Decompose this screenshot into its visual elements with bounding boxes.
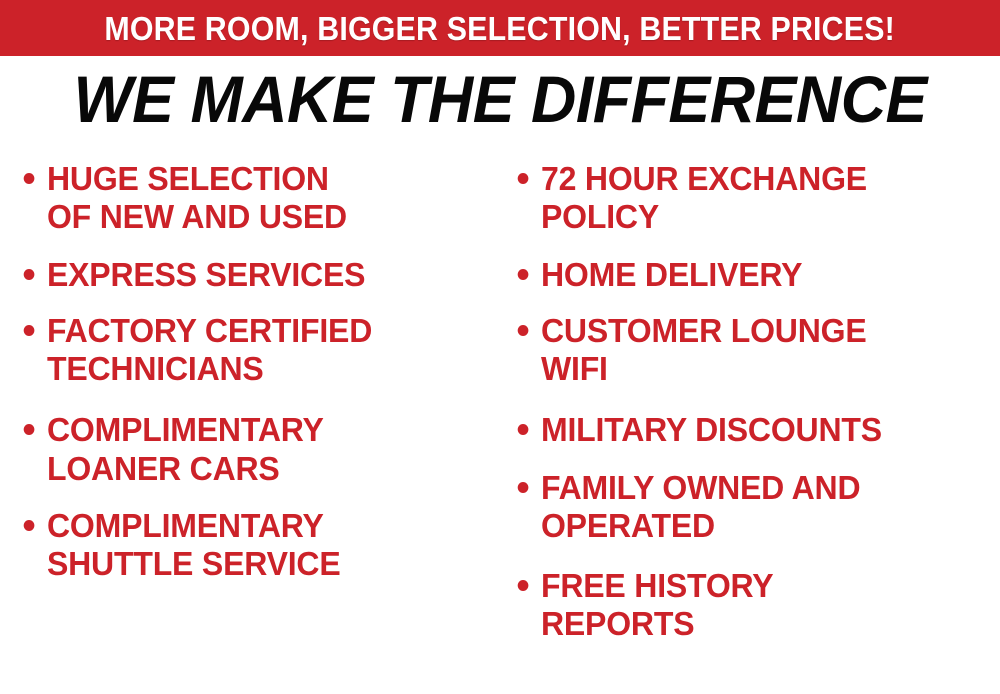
benefit-item: COMPLIMENTARY LOANER CARS [14, 411, 485, 488]
benefit-line-2: REPORTS [541, 605, 985, 643]
top-banner: MORE ROOM, BIGGER SELECTION, BETTER PRIC… [0, 0, 1000, 56]
benefit-line-2: POLICY [541, 198, 985, 236]
bullet-dot-icon [24, 520, 35, 531]
benefit-line-1: EXPRESS SERVICES [47, 256, 485, 294]
benefit-item: 72 HOUR EXCHANGE POLICY [508, 160, 985, 237]
benefit-item: CUSTOMER LOUNGE WIFI [508, 312, 985, 389]
benefit-line-1: FREE HISTORY [541, 567, 985, 605]
benefit-line-1: HOME DELIVERY [541, 256, 985, 294]
benefit-line-1: 72 HOUR EXCHANGE [541, 160, 985, 198]
benefit-item: COMPLIMENTARY SHUTTLE SERVICE [14, 507, 485, 584]
bullet-dot-icon [518, 482, 529, 493]
bullet-dot-icon [518, 269, 529, 280]
benefit-line-1: FACTORY CERTIFIED [47, 312, 485, 350]
benefit-item: HOME DELIVERY [508, 256, 985, 294]
benefit-line-2: OF NEW AND USED [47, 198, 485, 236]
bullet-dot-icon [24, 173, 35, 184]
advertisement-graphic: MORE ROOM, BIGGER SELECTION, BETTER PRIC… [0, 0, 1000, 694]
banner-headline-text: MORE ROOM, BIGGER SELECTION, BETTER PRIC… [105, 12, 896, 45]
benefit-line-2: WIFI [541, 350, 985, 388]
benefit-line-1: MILITARY DISCOUNTS [541, 411, 985, 449]
benefit-line-2: LOANER CARS [47, 450, 485, 488]
benefit-item: FAMILY OWNED AND OPERATED [508, 469, 985, 546]
benefits-columns: HUGE SELECTION OF NEW AND USED EXPRESS S… [0, 160, 1000, 694]
benefit-line-1: COMPLIMENTARY [47, 507, 485, 545]
bullet-dot-icon [24, 325, 35, 336]
bullet-dot-icon [518, 325, 529, 336]
benefit-line-1: HUGE SELECTION [47, 160, 485, 198]
bullet-dot-icon [518, 173, 529, 184]
benefit-line-1: CUSTOMER LOUNGE [541, 312, 985, 350]
benefit-item: HUGE SELECTION OF NEW AND USED [14, 160, 485, 237]
benefit-line-2: OPERATED [541, 507, 985, 545]
benefit-item: MILITARY DISCOUNTS [508, 411, 985, 449]
bullet-dot-icon [24, 424, 35, 435]
benefits-right-column: 72 HOUR EXCHANGE POLICY HOME DELIVERY CU… [508, 160, 1000, 653]
benefit-item: FREE HISTORY REPORTS [508, 567, 985, 644]
bullet-dot-icon [518, 424, 529, 435]
main-headline: WE MAKE THE DIFFERENCE [0, 66, 1000, 133]
benefit-line-2: TECHNICIANS [47, 350, 485, 388]
benefit-item: EXPRESS SERVICES [14, 256, 485, 294]
benefit-line-1: FAMILY OWNED AND [541, 469, 985, 507]
bullet-dot-icon [24, 269, 35, 280]
bullet-dot-icon [518, 580, 529, 591]
benefits-left-column: HUGE SELECTION OF NEW AND USED EXPRESS S… [14, 160, 500, 592]
main-headline-text: WE MAKE THE DIFFERENCE [73, 66, 926, 133]
benefit-line-1: COMPLIMENTARY [47, 411, 485, 449]
benefit-item: FACTORY CERTIFIED TECHNICIANS [14, 312, 485, 389]
benefit-line-2: SHUTTLE SERVICE [47, 545, 485, 583]
